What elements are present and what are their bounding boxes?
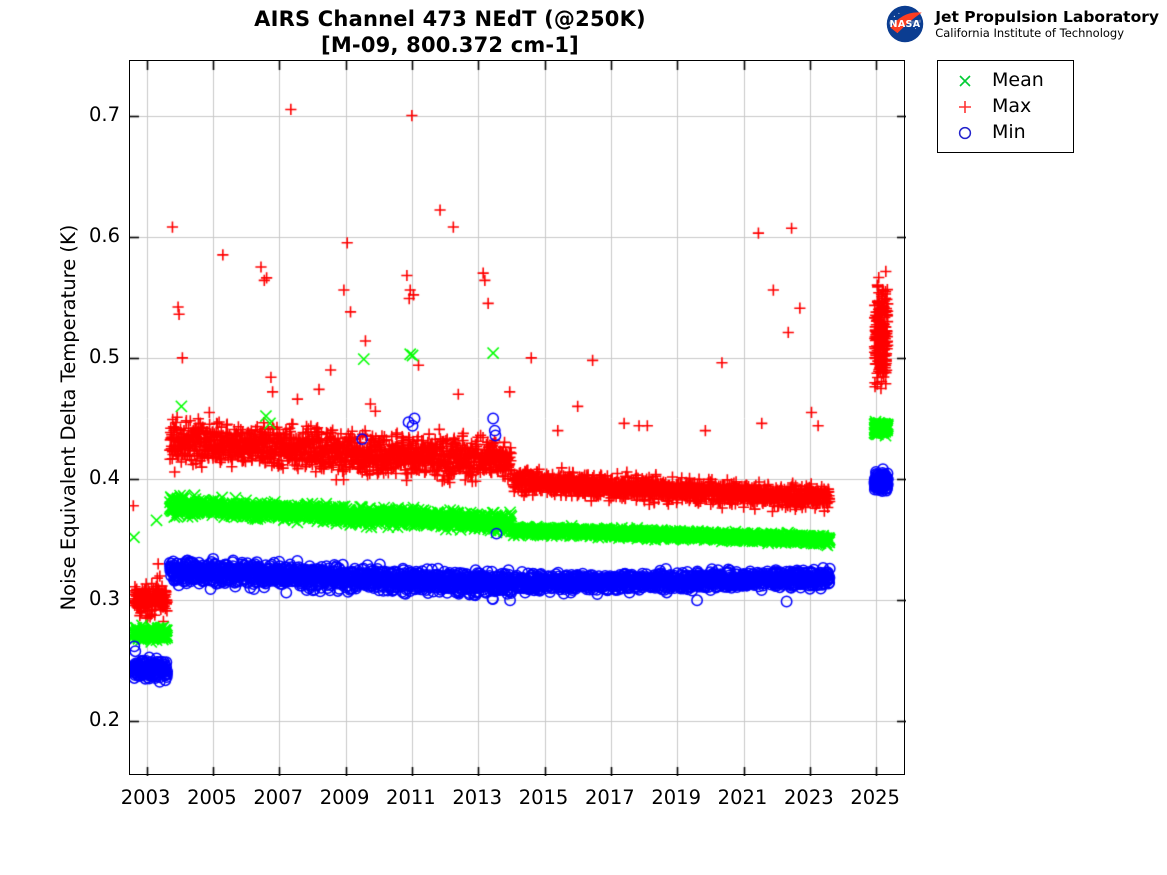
x-tick-label: 2019	[638, 787, 714, 809]
y-axis-title: Noise Equivalent Delta Temperature (K)	[52, 60, 86, 775]
x-tick-label: 2013	[439, 787, 515, 809]
x-tick-label: 2007	[240, 787, 316, 809]
x-tick-label: 2009	[307, 787, 383, 809]
x-tick-label: 2003	[108, 787, 184, 809]
x-tick-label: 2005	[174, 787, 250, 809]
x-tick-label: 2017	[572, 787, 648, 809]
x-tick-label: 2025	[837, 787, 913, 809]
x-tick-label: 2023	[771, 787, 847, 809]
x-tick-label: 2015	[506, 787, 582, 809]
x-tick-label: 2021	[705, 787, 781, 809]
x-tick-label: 2011	[373, 787, 449, 809]
x-axis-tick-labels: 2003200520072009201120132015201720192021…	[0, 0, 1167, 875]
